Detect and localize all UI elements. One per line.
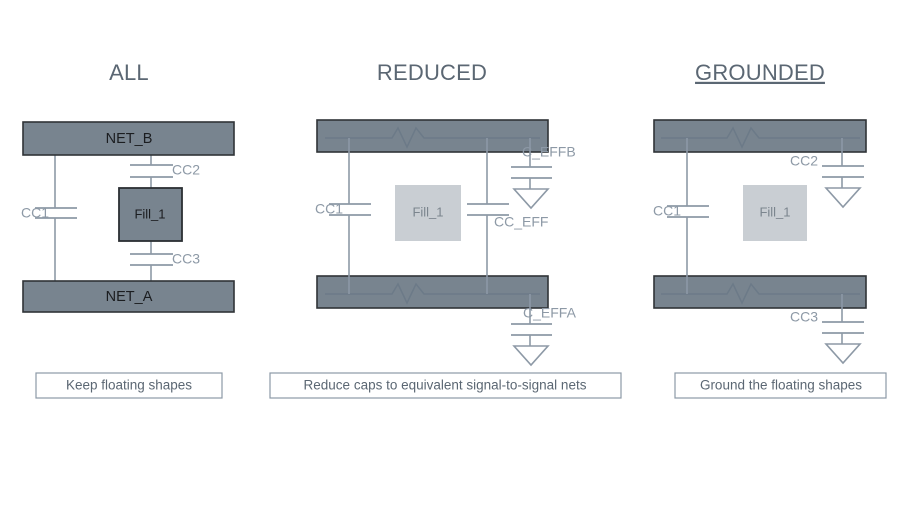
- capacitor-cc3-all: [130, 254, 173, 265]
- ground-symbol-cc3: [826, 344, 860, 363]
- net-bar-label-net-b: NET_B: [106, 131, 153, 147]
- panel-all: ALL CC1 CC2: [21, 60, 234, 398]
- capacitor-label-cc1-all: CC1: [21, 205, 49, 221]
- capacitance-modes-diagram: ALL CC1 CC2: [0, 0, 900, 506]
- fill-shape-label-reduced: Fill_1: [412, 204, 443, 219]
- panel-reduced: REDUCED CC1: [270, 60, 621, 398]
- ground-symbol-c-effa: [514, 346, 548, 365]
- capacitor-label-cc2-grounded: CC2: [790, 153, 818, 169]
- net-bar-bottom-grounded: [654, 276, 866, 308]
- fill-shape-label-grounded: Fill_1: [759, 204, 790, 219]
- capacitor-label-cc2-all: CC2: [172, 162, 200, 178]
- capacitor-label-cc3-grounded: CC3: [790, 309, 818, 325]
- net-bar-label-net-a: NET_A: [106, 289, 153, 305]
- caption-text-all: Keep floating shapes: [66, 378, 192, 393]
- capacitor-cc2-grounded: [822, 166, 864, 177]
- ground-symbol-c-effb: [514, 189, 548, 208]
- caption-text-reduced: Reduce caps to equivalent signal-to-sign…: [304, 378, 587, 393]
- panel-reduced-title: REDUCED: [377, 60, 487, 85]
- panel-all-title: ALL: [109, 60, 149, 85]
- capacitor-label-cc3-all: CC3: [172, 251, 200, 267]
- ground-symbol-cc2: [826, 188, 860, 207]
- capacitor-c-effa: [511, 324, 552, 335]
- panel-grounded: GROUNDED CC1: [653, 60, 886, 398]
- panel-grounded-title: GROUNDED: [695, 60, 825, 85]
- capacitor-c-effb: [511, 167, 552, 178]
- net-bar-top-grounded: [654, 120, 866, 152]
- capacitor-label-c-effb: C_EFFB: [522, 144, 576, 160]
- capacitor-label-cc1-grounded: CC1: [653, 203, 681, 219]
- diagram-canvas: ALL CC1 CC2: [0, 0, 900, 506]
- net-bar-top-reduced: [317, 120, 548, 152]
- capacitor-cc2-all: [130, 165, 173, 177]
- capacitor-label-c-effa: C_EFFA: [523, 305, 577, 321]
- fill-shape-label-all: Fill_1: [134, 206, 165, 221]
- capacitor-label-cc1-reduced: CC1: [315, 201, 343, 217]
- capacitor-label-cc-eff: CC_EFF: [494, 214, 548, 230]
- net-bar-bottom-reduced: [317, 276, 548, 308]
- caption-text-grounded: Ground the floating shapes: [700, 378, 862, 393]
- capacitor-cc3-grounded: [822, 322, 864, 333]
